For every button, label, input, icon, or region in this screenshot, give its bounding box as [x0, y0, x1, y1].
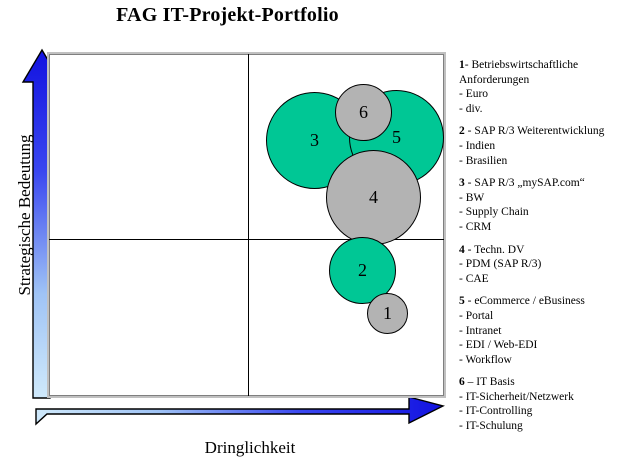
legend-item: - Workflow [459, 353, 624, 368]
legend-item: - EDI / Web-EDI [459, 338, 624, 353]
legend-item: - PDM (SAP R/3) [459, 257, 624, 272]
bubble-4-label: 4 [369, 187, 378, 208]
legend: 1- Betriebswirtschaftliche Anforderungen… [459, 58, 624, 434]
bubble-1[interactable]: 1 [367, 293, 408, 334]
legend-item: - Indien [459, 139, 624, 154]
legend-title-4: - Techn. DV [468, 244, 525, 256]
legend-item: - Portal [459, 309, 624, 324]
bubble-3-label: 3 [310, 130, 319, 151]
page-title: FAG IT-Projekt-Portfolio [0, 4, 455, 27]
bubble-1-label: 1 [383, 303, 392, 324]
bubble-6[interactable]: 6 [335, 84, 392, 141]
quadrant-divider-vertical [248, 54, 249, 396]
legend-head-4: 4 - Techn. DV [459, 243, 624, 258]
legend-num-4: 4 [459, 244, 465, 256]
legend-num-6: 6 [459, 376, 465, 388]
legend-group-5: 5 - eCommerce / eBusiness - Portal - Int… [459, 294, 624, 367]
legend-item: - IT-Schulung [459, 419, 624, 434]
bubble-4[interactable]: 4 [326, 150, 421, 245]
legend-item: - Supply Chain [459, 205, 624, 220]
legend-item: - Intranet [459, 324, 624, 339]
legend-num-5: 5 [459, 295, 465, 307]
legend-item: - Euro [459, 87, 624, 102]
legend-title-3: - SAP R/3 „mySAP.com“ [468, 177, 585, 189]
bubble-6-label: 6 [359, 102, 368, 123]
legend-head-6: 6 – IT Basis [459, 375, 624, 390]
legend-group-1: 1- Betriebswirtschaftliche Anforderungen… [459, 58, 624, 116]
legend-group-6: 6 – IT Basis - IT-Sicherheit/Netzwerk - … [459, 375, 624, 433]
legend-head-3: 3 - SAP R/3 „mySAP.com“ [459, 176, 624, 191]
legend-group-4: 4 - Techn. DV - PDM (SAP R/3) - CAE [459, 243, 624, 287]
legend-title-1: - Betriebswirtschaftliche Anforderungen [459, 59, 578, 86]
legend-num-3: 3 [459, 177, 465, 189]
x-axis-label: Dringlichkeit [150, 438, 350, 458]
legend-head-5: 5 - eCommerce / eBusiness [459, 294, 624, 309]
legend-group-3: 3 - SAP R/3 „mySAP.com“ - BW - Supply Ch… [459, 176, 624, 234]
bubble-5-label: 5 [392, 127, 401, 148]
legend-head-2: 2 - SAP R/3 Weiterentwicklung [459, 124, 624, 139]
legend-title-2: - SAP R/3 Weiterentwicklung [468, 125, 605, 137]
legend-num-2: 2 [459, 125, 465, 137]
legend-item: - div. [459, 102, 624, 117]
legend-item: - IT-Sicherheit/Netzwerk [459, 390, 624, 405]
legend-item: - IT-Controlling [459, 404, 624, 419]
legend-group-2: 2 - SAP R/3 Weiterentwicklung - Indien -… [459, 124, 624, 168]
legend-item: - CAE [459, 272, 624, 287]
y-axis-label: Strategische Bedeutung [15, 95, 35, 335]
plot-area: 3 5 6 4 2 1 [47, 52, 446, 398]
legend-item: - BW [459, 191, 624, 206]
legend-head-1: 1- Betriebswirtschaftliche Anforderungen [459, 58, 624, 87]
bubble-2-label: 2 [358, 260, 367, 281]
legend-item: - Brasilien [459, 154, 624, 169]
legend-item: - CRM [459, 220, 624, 235]
legend-title-5: - eCommerce / eBusiness [468, 295, 585, 307]
legend-title-6: – IT Basis [468, 376, 515, 388]
